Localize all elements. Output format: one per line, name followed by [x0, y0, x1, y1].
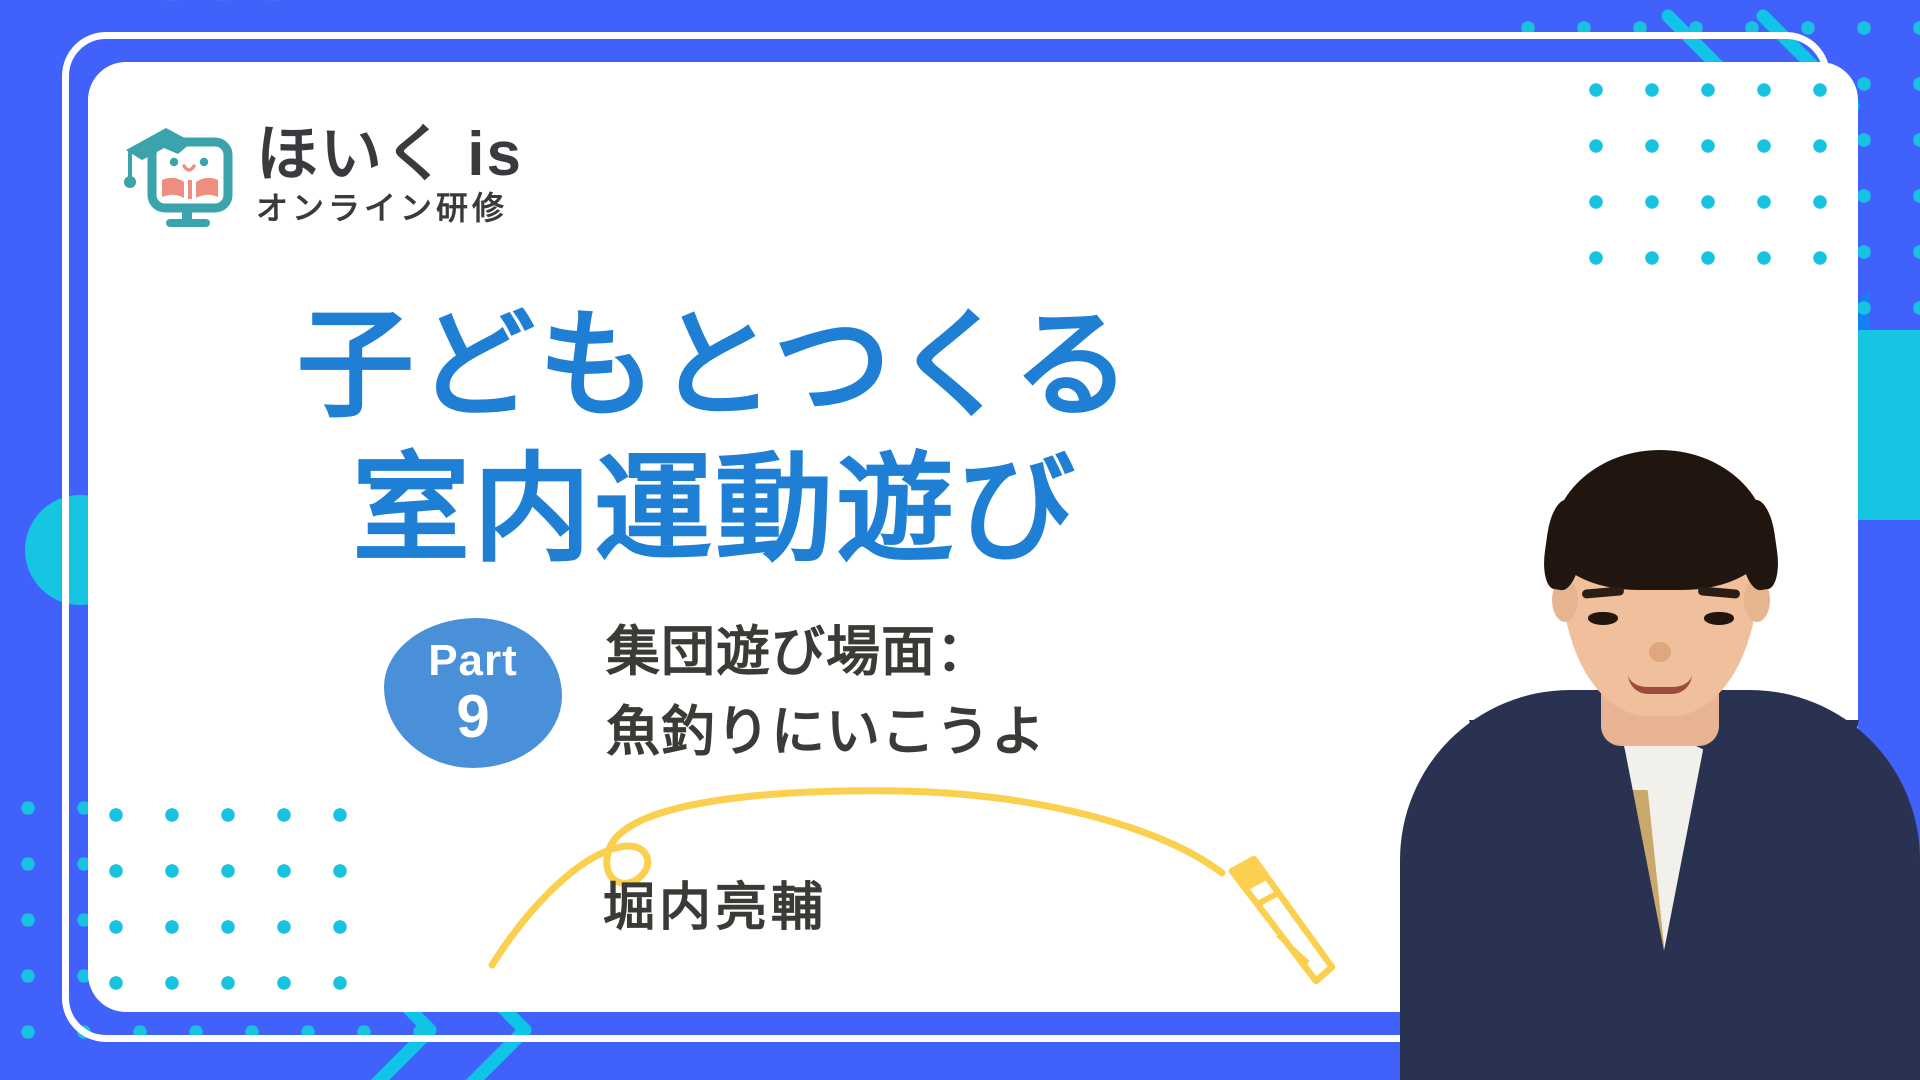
presenter-name: 堀内亮輔 — [0, 865, 1430, 940]
subtitle-line-1: 集団遊び場面： — [606, 621, 1046, 685]
training-title-slide: ほいく is オンライン研修 子どもとつくる 室内運動遊び Part 9 集団遊… — [0, 0, 1920, 1080]
portrait-eye-right — [1704, 612, 1734, 625]
subtitle-line-2: 魚釣りにいこうよ — [606, 701, 1046, 765]
part-badge: Part 9 — [384, 618, 562, 768]
part-badge-number: 9 — [456, 685, 489, 748]
part-badge-word: Part — [428, 639, 518, 683]
portrait-mouth — [1628, 674, 1692, 694]
presenter-portrait — [1400, 350, 1920, 1080]
brand-logo-name: ほいく is — [256, 124, 523, 186]
portrait-hair — [1552, 450, 1768, 590]
brand-logo-subtitle: オンライン研修 — [256, 192, 523, 224]
portrait-nose — [1649, 642, 1671, 662]
brand-logo-text: ほいく is オンライン研修 — [256, 124, 523, 224]
subtitle-row: Part 9 集団遊び場面： 魚釣りにいこうよ — [0, 618, 1430, 768]
graduation-cap-book-mascot-icon — [118, 118, 238, 230]
page-title-line-1: 子どもとつくる — [0, 295, 1430, 439]
brand-logo[interactable]: ほいく is オンライン研修 — [118, 118, 523, 230]
page-title-line-2: 室内運動遊び — [0, 439, 1430, 583]
portrait-eye-left — [1588, 612, 1618, 625]
page-title: 子どもとつくる 室内運動遊び — [0, 295, 1430, 583]
subtitle-block: 集団遊び場面： 魚釣りにいこうよ — [606, 621, 1046, 764]
